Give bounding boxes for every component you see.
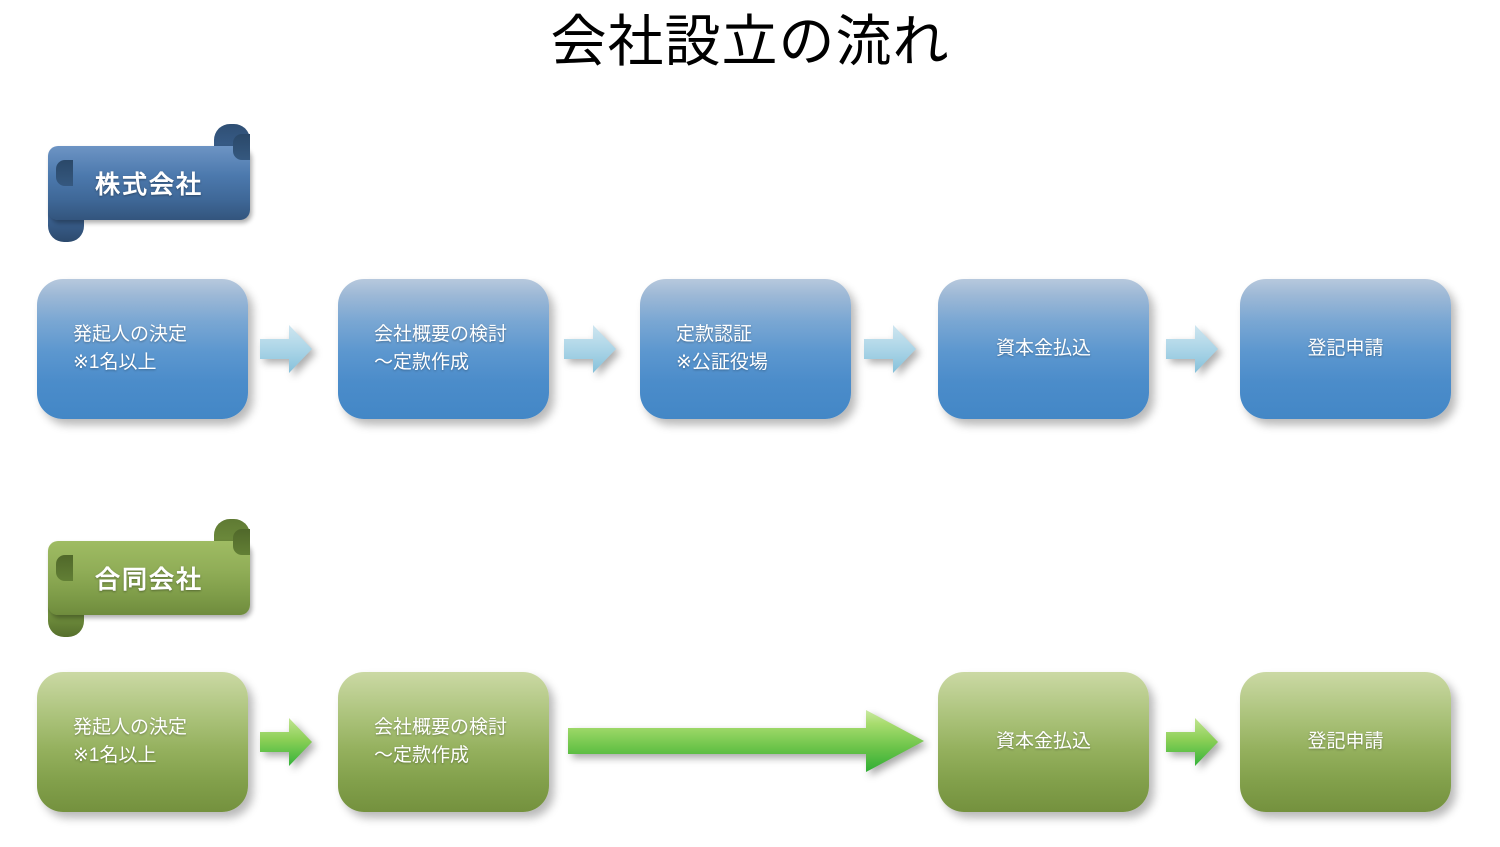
diagram-canvas: 会社設立の流れ 株式会社 発起人の決定 ※1名以上 会社概要の検討 ～定款作成	[0, 0, 1500, 847]
right-arrow-icon-kabushiki-2-3	[562, 322, 618, 376]
process-box-kabushiki-1[interactable]: 発起人の決定 ※1名以上	[37, 279, 248, 419]
banner-label: 株式会社	[48, 146, 250, 220]
process-box-label: 発起人の決定 ※1名以上	[37, 714, 248, 770]
right-arrow-icon-goudou-4-5	[1164, 715, 1220, 769]
process-box-goudou-5[interactable]: 登記申請	[1240, 672, 1451, 812]
right-arrow-icon-goudou-1-2	[258, 715, 314, 769]
long-right-arrow-icon-goudou-2-4	[566, 708, 926, 774]
ribbon-notch-top-right	[233, 134, 250, 160]
banner-kabushiki-gaisha: 株式会社	[40, 118, 250, 198]
right-arrow-icon-kabushiki-1-2	[258, 322, 314, 376]
page-title: 会社設立の流れ	[0, 4, 1500, 80]
ribbon-body: 合同会社	[48, 541, 250, 615]
process-box-kabushiki-5[interactable]: 登記申請	[1240, 279, 1451, 419]
process-box-label: 会社概要の検討 ～定款作成	[338, 321, 549, 377]
process-box-kabushiki-3[interactable]: 定款認証 ※公証役場	[640, 279, 851, 419]
right-arrow-icon-kabushiki-3-4	[862, 322, 918, 376]
process-box-label: 会社概要の検討 ～定款作成	[338, 714, 549, 770]
ribbon-notch-top-right	[233, 529, 250, 555]
process-box-label: 定款認証 ※公証役場	[640, 321, 851, 377]
process-box-kabushiki-2[interactable]: 会社概要の検討 ～定款作成	[338, 279, 549, 419]
process-box-goudou-1[interactable]: 発起人の決定 ※1名以上	[37, 672, 248, 812]
ribbon-notch-bottom-left	[56, 160, 73, 186]
process-box-goudou-4[interactable]: 資本金払込	[938, 672, 1149, 812]
process-box-kabushiki-4[interactable]: 資本金払込	[938, 279, 1149, 419]
right-arrow-icon-kabushiki-4-5	[1164, 322, 1220, 376]
process-box-label: 登記申請	[1240, 335, 1451, 363]
ribbon-notch-bottom-left	[56, 555, 73, 581]
ribbon-body: 株式会社	[48, 146, 250, 220]
process-box-label: 登記申請	[1240, 728, 1451, 756]
process-box-goudou-2[interactable]: 会社概要の検討 ～定款作成	[338, 672, 549, 812]
process-box-label: 資本金払込	[938, 728, 1149, 756]
banner-label: 合同会社	[48, 541, 250, 615]
process-box-label: 発起人の決定 ※1名以上	[37, 321, 248, 377]
process-box-label: 資本金払込	[938, 335, 1149, 363]
banner-goudou-gaisha: 合同会社	[40, 513, 250, 593]
